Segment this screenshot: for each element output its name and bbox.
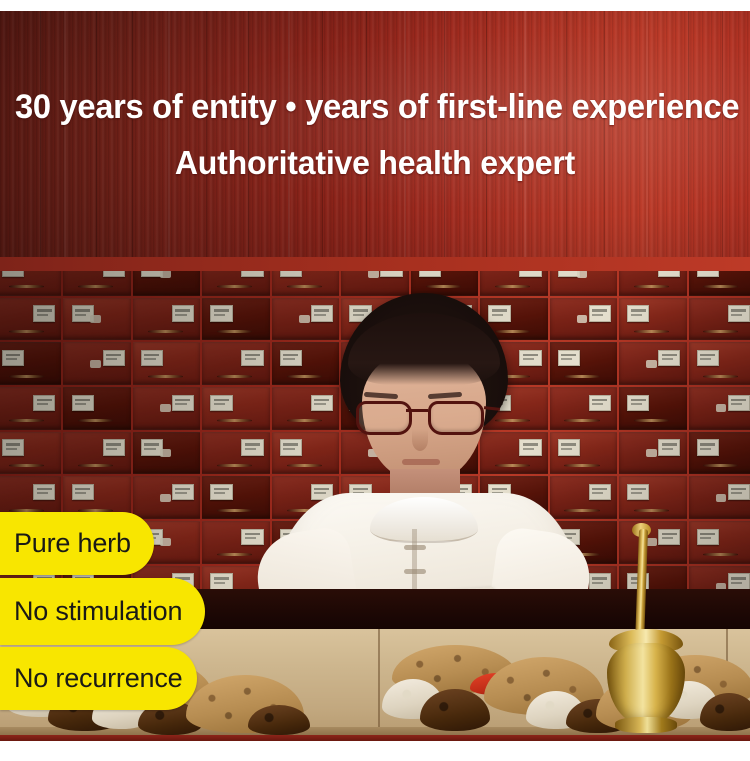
feature-badge-label: No recurrence bbox=[0, 663, 182, 694]
glasses-bridge bbox=[406, 409, 428, 412]
tunic-fastener bbox=[404, 545, 426, 550]
lens-right bbox=[428, 401, 484, 435]
feature-badge-no-recurrence[interactable]: No recurrence bbox=[0, 647, 197, 710]
wall-top-strip bbox=[0, 257, 750, 271]
nose bbox=[412, 429, 428, 451]
headline-banner bbox=[0, 11, 750, 259]
feature-badge-no-stimulation[interactable]: No stimulation bbox=[0, 578, 205, 645]
headline-primary: 30 years of entity • years of first-line… bbox=[15, 86, 735, 128]
mouth bbox=[402, 459, 440, 465]
pestle-rod bbox=[635, 529, 648, 645]
bottom-margin bbox=[0, 741, 750, 761]
headline-secondary: Authoritative health expert bbox=[11, 142, 739, 184]
feature-badge-label: No stimulation bbox=[0, 596, 182, 627]
paper-seam bbox=[378, 629, 380, 735]
glasses-temple bbox=[484, 406, 500, 411]
feature-badge-pure-herb[interactable]: Pure herb bbox=[0, 512, 154, 575]
mortar-foot bbox=[615, 717, 677, 733]
promotional-poster: 30 years of entity • years of first-line… bbox=[0, 0, 750, 761]
mortar-body bbox=[607, 643, 685, 725]
feature-badge-label: Pure herb bbox=[0, 528, 131, 559]
banner-vignette bbox=[0, 11, 750, 259]
top-margin bbox=[0, 0, 750, 11]
tunic-fastener bbox=[404, 569, 426, 574]
brass-mortar-and-pestle bbox=[601, 529, 697, 735]
lens-left bbox=[356, 401, 412, 435]
eyeglasses-icon bbox=[354, 401, 494, 431]
